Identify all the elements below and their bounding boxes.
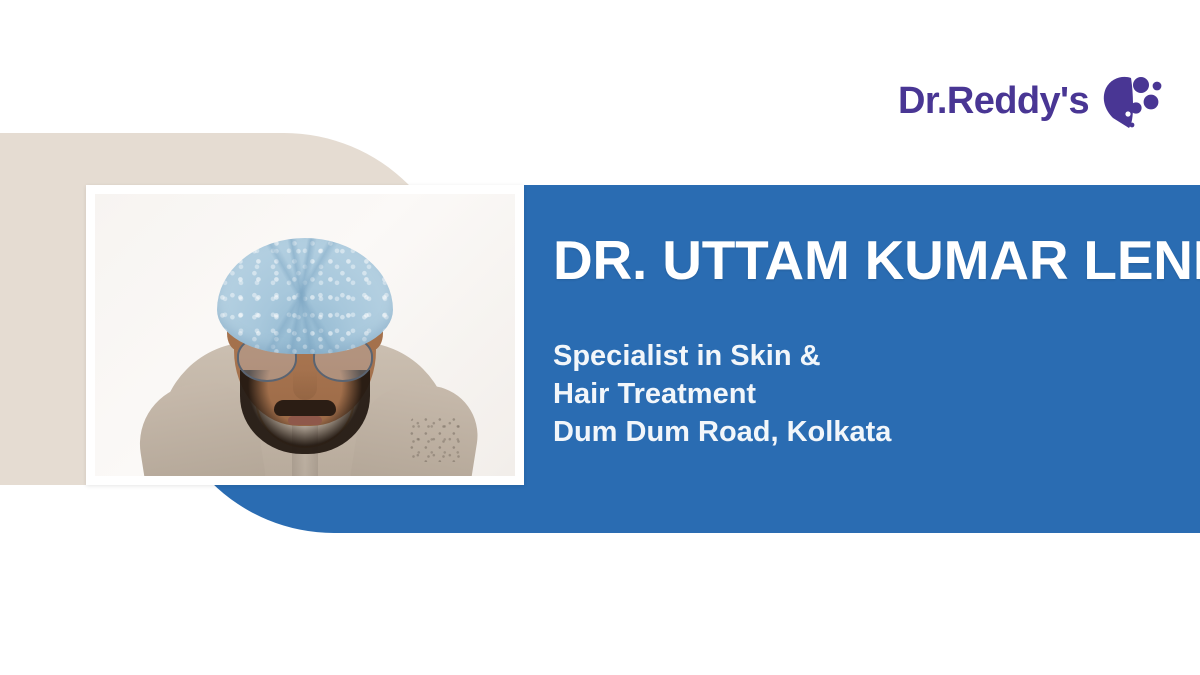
specialty-line-1: Specialist in Skin & [553,337,891,375]
doctor-photo-card [86,185,524,485]
brand-logo-wordmark: Dr.Reddy's [898,80,1089,123]
brand-logo: Dr.Reddy's [898,72,1163,130]
promo-banner: DR. UTTAM KUMAR LENKA Specialist in Skin… [0,0,1200,675]
dr-reddys-heart-dots-logo-icon [1101,72,1163,130]
lower-lip [288,416,322,425]
mustache [274,400,336,416]
doctor-portrait-illustration [95,194,515,476]
sleeve-detail [409,416,463,462]
doctor-photo [95,194,515,476]
specialty-line-2: Hair Treatment [553,375,891,413]
clinic-location-line: Dum Dum Road, Kolkata [553,413,891,451]
surgical-cap-pleats [217,238,393,354]
surgical-cap [217,238,393,354]
doctor-details: Specialist in Skin & Hair Treatment Dum … [553,337,891,451]
doctor-name-heading: DR. UTTAM KUMAR LENKA [553,232,1200,290]
